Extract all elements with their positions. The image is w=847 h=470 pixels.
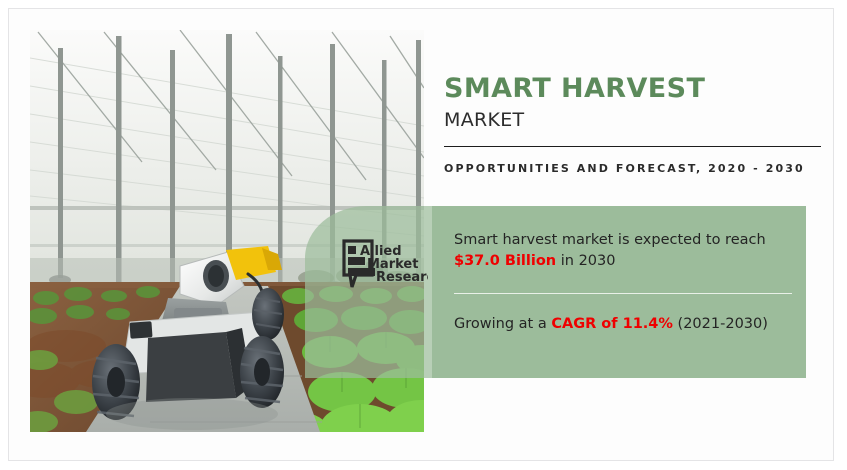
page-subtitle: MARKET [444, 110, 819, 132]
page-title: SMART HARVEST [444, 74, 819, 104]
greenhouse-harvest-robot-photo [30, 30, 424, 432]
headline-block: SMART HARVEST MARKET [444, 74, 819, 132]
report-kicker: OPPORTUNITIES AND FORECAST, 2020 - 2030 [444, 159, 829, 178]
stat-market-size-suffix: in 2030 [556, 253, 615, 269]
stat-cagr-prefix: Growing at a [454, 316, 551, 332]
stat-market-size-prefix: Smart harvest market is expected to reac… [454, 232, 766, 248]
stats-panel-solid [432, 206, 806, 378]
stat-row-market-size: Smart harvest market is expected to reac… [454, 230, 788, 272]
stat-row-cagr: Growing at a CAGR of 11.4% (2021-2030) [454, 314, 788, 335]
stat-market-size-value: $37.0 Billion [454, 253, 556, 269]
infographic-card: SMART HARVEST MARKET OPPORTUNITIES AND F… [8, 8, 834, 461]
stat-cagr-value: CAGR of 11.4% [551, 316, 673, 332]
stat-cagr-suffix: (2021-2030) [673, 316, 768, 332]
stats-inner-divider [454, 293, 792, 294]
title-divider [444, 146, 821, 147]
